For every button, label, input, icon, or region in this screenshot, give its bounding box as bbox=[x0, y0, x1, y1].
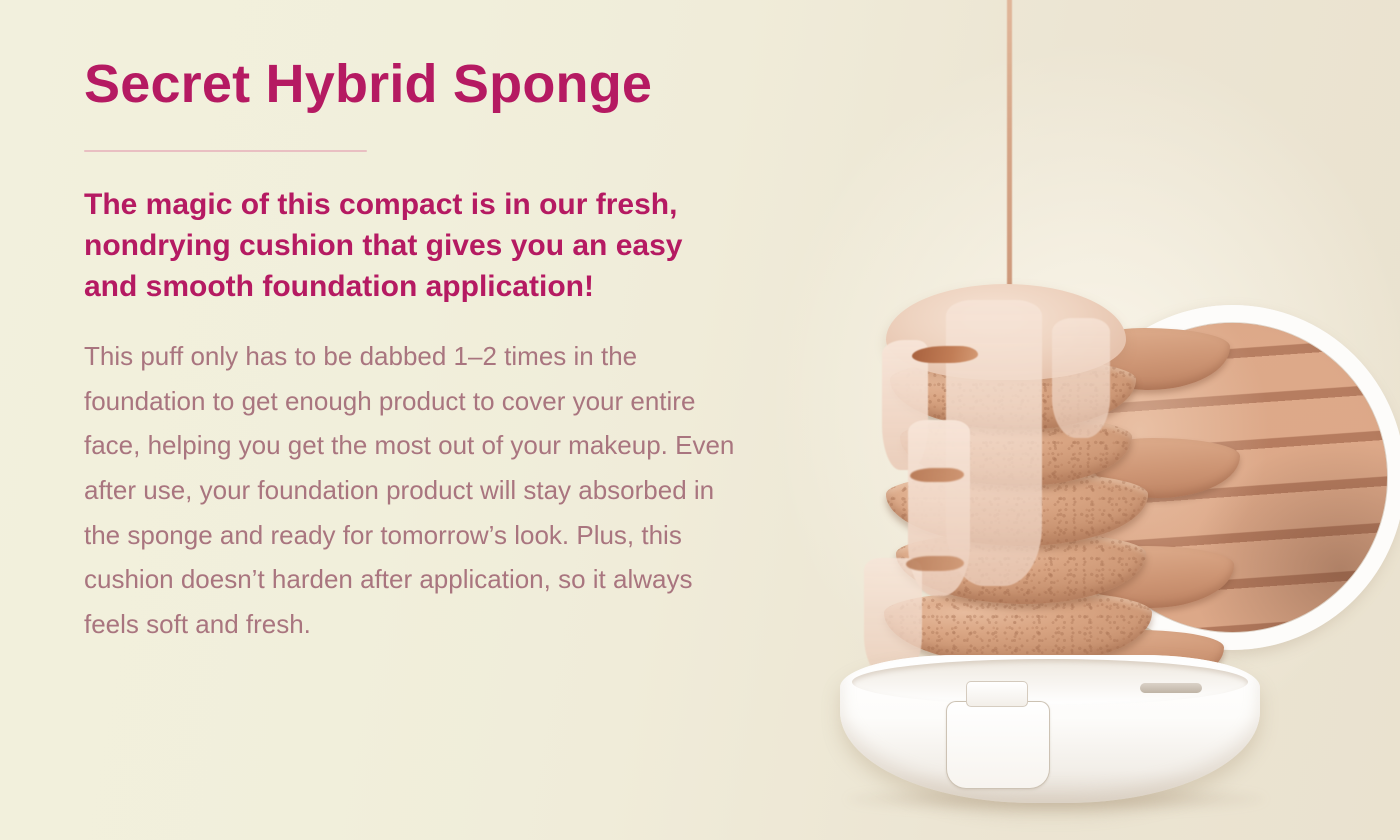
title-divider bbox=[84, 150, 367, 152]
product-feature-banner: Secret Hybrid Sponge The magic of this c… bbox=[0, 0, 1400, 840]
foundation-drip bbox=[1052, 318, 1110, 438]
body-paragraph: This puff only has to be dabbed 1–2 time… bbox=[84, 334, 739, 647]
subheadline: The magic of this compact is in our fres… bbox=[84, 184, 704, 308]
product-photo bbox=[760, 0, 1400, 840]
foundation-trail bbox=[912, 346, 978, 363]
foundation-trail bbox=[910, 468, 964, 482]
latch-tab bbox=[946, 701, 1050, 789]
compact-base-lip bbox=[852, 659, 1248, 705]
text-column: Secret Hybrid Sponge The magic of this c… bbox=[84, 56, 744, 647]
pouring-foundation-stream bbox=[1007, 0, 1012, 304]
latch-nub bbox=[966, 681, 1028, 707]
foundation-trail bbox=[906, 556, 964, 571]
compact-hinge bbox=[1140, 683, 1202, 693]
page-title: Secret Hybrid Sponge bbox=[84, 56, 744, 113]
